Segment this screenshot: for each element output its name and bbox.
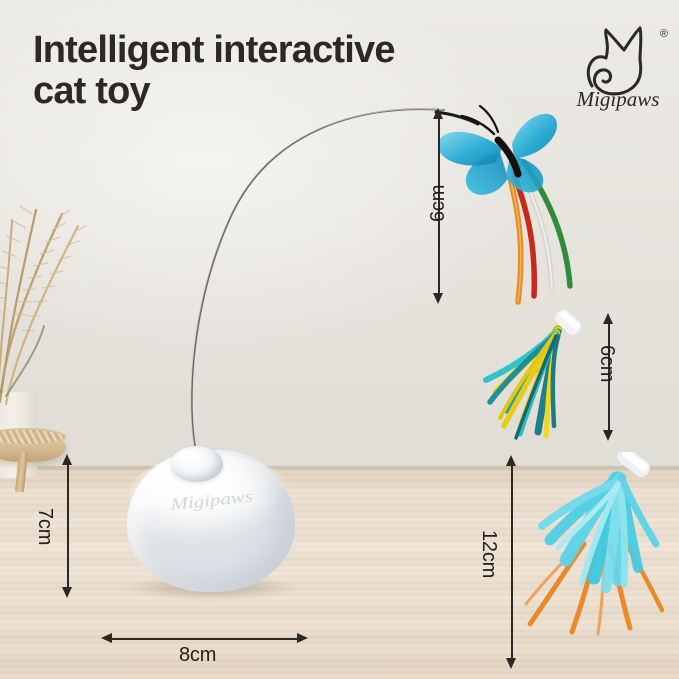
arrow-head-up-icon <box>603 313 613 324</box>
knob-specular-highlight <box>180 451 200 462</box>
pampas-grass-icon <box>0 196 116 426</box>
dimension-line <box>112 638 297 640</box>
arrow-head-up-icon <box>433 108 443 119</box>
arrow-head-down-icon <box>62 587 72 598</box>
base-knob <box>171 446 223 482</box>
dimension-line <box>67 462 69 589</box>
product-infographic: Intelligent interactive cat toy ® Migipa… <box>0 0 679 679</box>
dimension-label: 6cm <box>595 345 618 382</box>
arrow-head-down-icon <box>506 658 516 669</box>
registered-trademark-icon: ® <box>660 28 668 40</box>
dimension-line <box>511 463 513 660</box>
dimension-label: 12cm <box>477 530 500 578</box>
title-line-1: Intelligent interactive <box>33 30 503 71</box>
arrow-head-left-icon <box>101 633 112 643</box>
arrow-head-up-icon <box>62 454 72 465</box>
arrow-head-down-icon <box>603 430 613 441</box>
tassel-attachment <box>446 308 592 448</box>
arrow-head-up-icon <box>506 455 516 466</box>
feather-attachment <box>520 452 679 642</box>
arrow-head-right-icon <box>297 633 308 643</box>
butterfly-attachment <box>424 100 604 310</box>
arrow-head-down-icon <box>433 293 443 304</box>
dimension-label: 6cm <box>427 185 450 222</box>
dimension-label: 8cm <box>179 644 216 667</box>
dimension-label: 7cm <box>33 508 56 545</box>
